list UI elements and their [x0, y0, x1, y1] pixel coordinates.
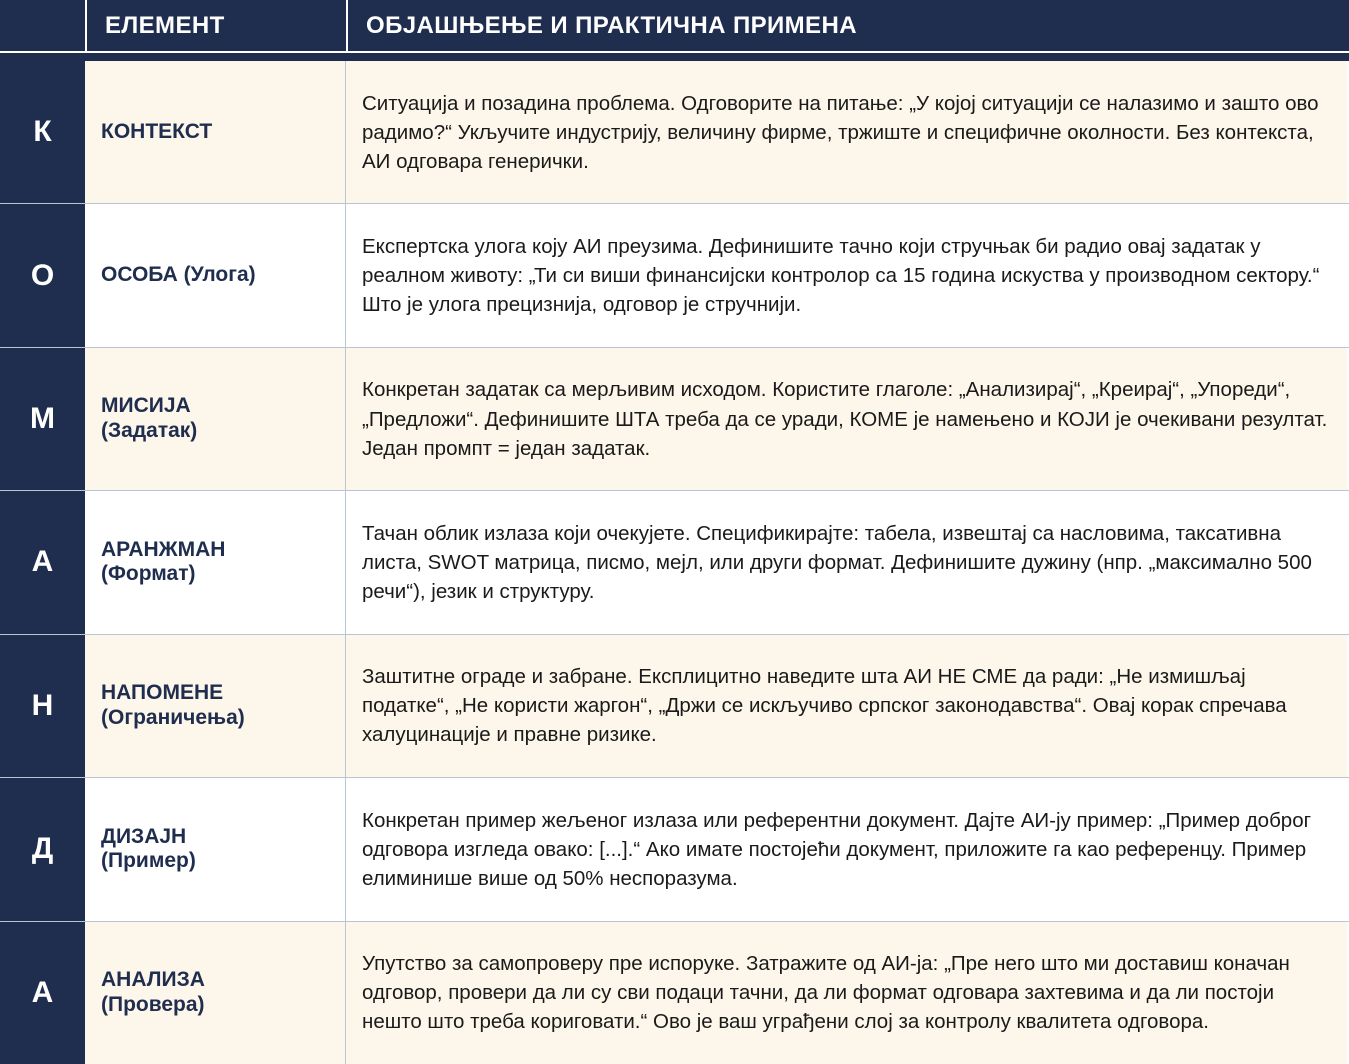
komanda-framework-table: ЕЛЕМЕНТ ОБЈАШЊЕЊЕ И ПРАКТИЧНА ПРИМЕНА КК…	[0, 0, 1349, 1064]
row-description-cell: Конкретан пример жељеног излаза или рефе…	[346, 778, 1349, 920]
row-element-cell: ДИЗАЈН(Пример)	[85, 778, 346, 920]
header-cell-letter	[0, 0, 85, 51]
row-letter-badge: Д	[0, 778, 85, 920]
row-element-cell: ОСОБА (Улога)	[85, 204, 346, 346]
row-description-text: Експертска улога коју АИ преузима. Дефин…	[362, 232, 1333, 319]
table-row: ММИСИЈА(Задатак)Конкретан задатак са мер…	[0, 348, 1349, 491]
row-description-cell: Ситуација и позадина проблема. Одговорит…	[346, 61, 1349, 203]
row-element-cell: НАПОМЕНЕ(Ограничења)	[85, 635, 346, 777]
row-description-cell: Тачан облик излаза који очекујете. Специ…	[346, 491, 1349, 633]
header-accent-strip	[0, 53, 1349, 61]
row-element-cell: АНАЛИЗА(Провера)	[85, 922, 346, 1064]
row-description-text: Ситуација и позадина проблема. Одговорит…	[362, 89, 1333, 176]
row-element-label: КОНТЕКСТ	[101, 120, 212, 145]
row-element-cell: АРАНЖМАН(Формат)	[85, 491, 346, 633]
table-row: ККОНТЕКСТСитуација и позадина проблема. …	[0, 61, 1349, 204]
table-row: ООСОБА (Улога)Експертска улога коју АИ п…	[0, 204, 1349, 347]
row-description-cell: Заштитне ограде и забране. Експлицитно н…	[346, 635, 1349, 777]
table-header-row: ЕЛЕМЕНТ ОБЈАШЊЕЊЕ И ПРАКТИЧНА ПРИМЕНА	[0, 0, 1349, 51]
row-description-cell: Упутство за самопроверу пре испоруке. За…	[346, 922, 1349, 1064]
row-letter-badge: А	[0, 922, 85, 1064]
header-label-description: ОБЈАШЊЕЊЕ И ПРАКТИЧНА ПРИМЕНА	[348, 12, 857, 40]
row-description-cell: Конкретан задатак са мерљивим исходом. К…	[346, 348, 1349, 490]
row-letter-badge: М	[0, 348, 85, 490]
row-letter-badge: К	[0, 61, 85, 203]
row-element-label: МИСИЈА(Задатак)	[101, 394, 197, 444]
row-letter-badge: Н	[0, 635, 85, 777]
row-letter-badge: О	[0, 204, 85, 346]
row-element-label: ДИЗАЈН(Пример)	[101, 825, 196, 875]
header-label-element: ЕЛЕМЕНТ	[87, 12, 225, 40]
header-cell-element: ЕЛЕМЕНТ	[85, 0, 346, 51]
row-element-label: АРАНЖМАН(Формат)	[101, 538, 225, 588]
row-element-label: ОСОБА (Улога)	[101, 263, 256, 288]
table-row: ННАПОМЕНЕ(Ограничења)Заштитне ограде и з…	[0, 635, 1349, 778]
row-element-label: АНАЛИЗА(Провера)	[101, 968, 205, 1018]
row-element-cell: КОНТЕКСТ	[85, 61, 346, 203]
row-description-text: Тачан облик излаза који очекујете. Специ…	[362, 519, 1333, 606]
row-element-label: НАПОМЕНЕ(Ограничења)	[101, 681, 245, 731]
row-description-text: Конкретан пример жељеног излаза или рефе…	[362, 806, 1333, 893]
table-body: ККОНТЕКСТСитуација и позадина проблема. …	[0, 61, 1349, 1064]
table-row: ДДИЗАЈН(Пример)Конкретан пример жељеног …	[0, 778, 1349, 921]
header-cell-description: ОБЈАШЊЕЊЕ И ПРАКТИЧНА ПРИМЕНА	[346, 0, 1349, 51]
row-element-cell: МИСИЈА(Задатак)	[85, 348, 346, 490]
table-row: ААРАНЖМАН(Формат)Тачан облик излаза који…	[0, 491, 1349, 634]
table-row: ААНАЛИЗА(Провера)Упутство за самопроверу…	[0, 922, 1349, 1064]
row-description-cell: Експертска улога коју АИ преузима. Дефин…	[346, 204, 1349, 346]
row-letter-badge: А	[0, 491, 85, 633]
row-description-text: Упутство за самопроверу пре испоруке. За…	[362, 949, 1333, 1036]
row-description-text: Конкретан задатак са мерљивим исходом. К…	[362, 375, 1333, 462]
row-description-text: Заштитне ограде и забране. Експлицитно н…	[362, 662, 1333, 749]
